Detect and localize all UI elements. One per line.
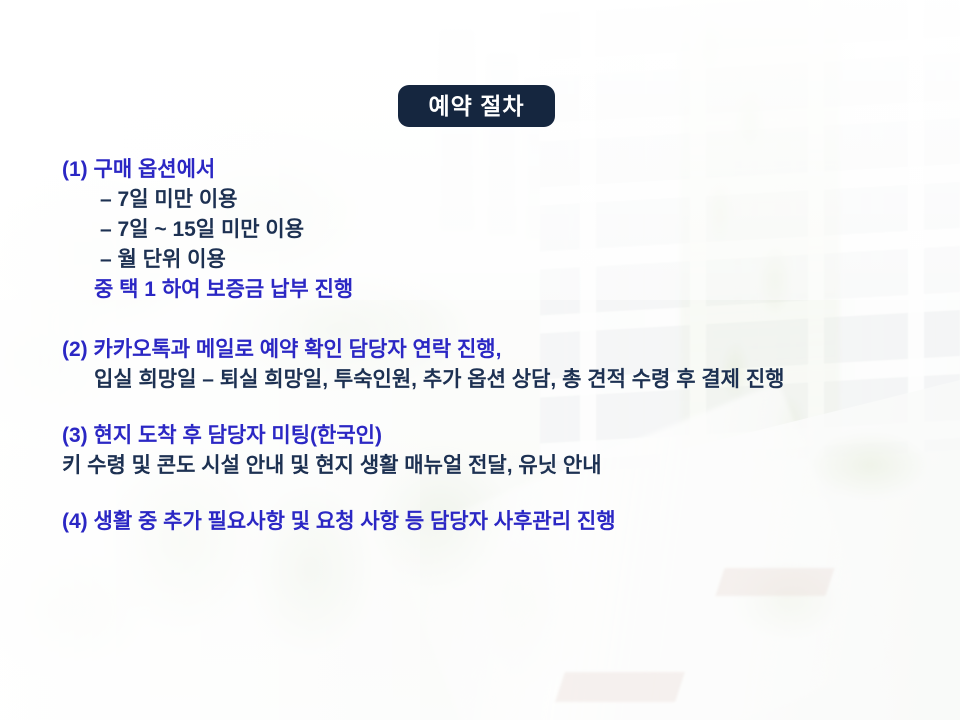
slide-content: 예약 절차 (1) 구매 옵션에서 – 7일 미만 이용 – 7일 ~ 15일 … xyxy=(0,0,960,720)
procedure-step-2: (2) 카카오톡과 메일로 예약 확인 담당자 연락 진행, 입실 희망일 – … xyxy=(62,335,902,395)
procedure-step-4: (4) 생활 중 추가 필요사항 및 요청 사항 등 담당자 사후관리 진행 xyxy=(62,507,902,537)
procedure-step-3: (3) 현지 도착 후 담당자 미팅(한국인) 키 수령 및 콘도 시설 안내 … xyxy=(62,421,902,481)
step-1-option-3: – 월 단위 이용 xyxy=(62,245,902,275)
step-2-heading: (2) 카카오톡과 메일로 예약 확인 담당자 연락 진행, xyxy=(62,335,902,365)
step-2-detail: 입실 희망일 – 퇴실 희망일, 투숙인원, 추가 옵션 상담, 총 견적 수령… xyxy=(62,365,902,395)
slide-title-badge: 예약 절차 xyxy=(398,85,555,127)
procedure-list: (1) 구매 옵션에서 – 7일 미만 이용 – 7일 ~ 15일 미만 이용 … xyxy=(62,155,902,543)
presentation-slide: 예약 절차 (1) 구매 옵션에서 – 7일 미만 이용 – 7일 ~ 15일 … xyxy=(0,0,960,720)
step-3-heading: (3) 현지 도착 후 담당자 미팅(한국인) xyxy=(62,421,902,451)
step-1-option-1: – 7일 미만 이용 xyxy=(62,185,902,215)
step-1-option-2: – 7일 ~ 15일 미만 이용 xyxy=(62,215,902,245)
procedure-step-1: (1) 구매 옵션에서 – 7일 미만 이용 – 7일 ~ 15일 미만 이용 … xyxy=(62,155,902,305)
step-1-heading: (1) 구매 옵션에서 xyxy=(62,155,902,185)
step-1-note: 중 택 1 하여 보증금 납부 진행 xyxy=(62,275,902,305)
slide-title-text: 예약 절차 xyxy=(428,95,524,118)
step-3-detail: 키 수령 및 콘도 시설 안내 및 현지 생활 매뉴얼 전달, 유닛 안내 xyxy=(62,451,902,481)
step-4-heading: (4) 생활 중 추가 필요사항 및 요청 사항 등 담당자 사후관리 진행 xyxy=(62,507,902,537)
